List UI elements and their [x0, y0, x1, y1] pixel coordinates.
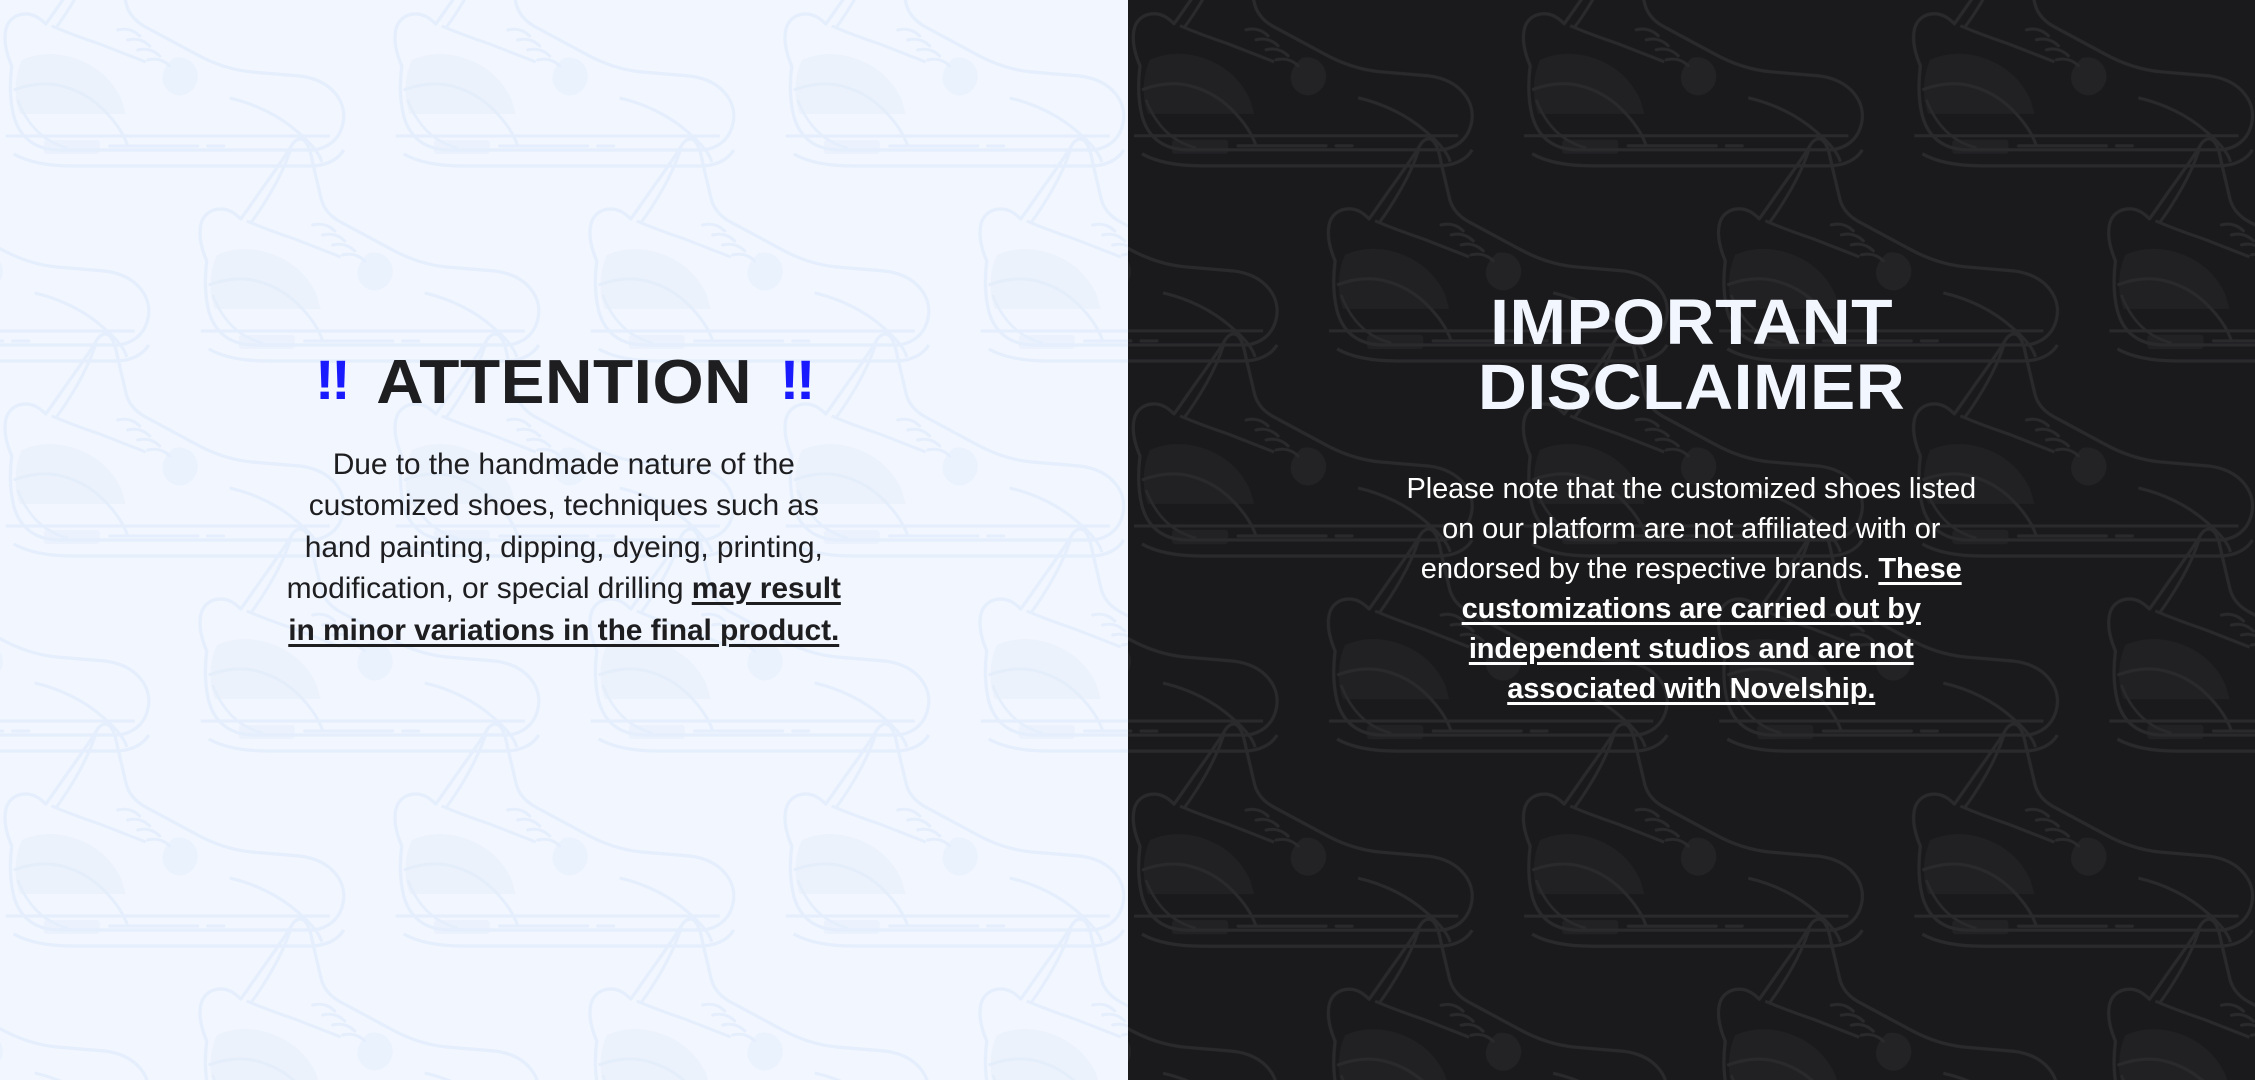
disclaimer-body: Please note that the customized shoes li…	[1391, 469, 1991, 709]
disclaimer-banner: ‼ ATTENTION ‼ Due to the handmade nature…	[0, 0, 2255, 1080]
attention-headline: ‼ ATTENTION ‼	[314, 352, 813, 414]
attention-headline-text: ATTENTION	[376, 352, 752, 414]
disclaimer-headline-line2: DISCLAIMER	[1478, 355, 1905, 420]
attention-body: Due to the handmade nature of the custom…	[274, 444, 854, 651]
double-exclamation-icon-right: ‼	[779, 352, 813, 408]
disclaimer-headline-line1: IMPORTANT	[1478, 290, 1905, 355]
attention-panel: ‼ ATTENTION ‼ Due to the handmade nature…	[0, 0, 1128, 1080]
double-exclamation-icon-left: ‼	[314, 352, 348, 408]
disclaimer-panel: IMPORTANT DISCLAIMER Please note that th…	[1128, 0, 2255, 1080]
disclaimer-headline: IMPORTANT DISCLAIMER	[1478, 290, 1905, 421]
